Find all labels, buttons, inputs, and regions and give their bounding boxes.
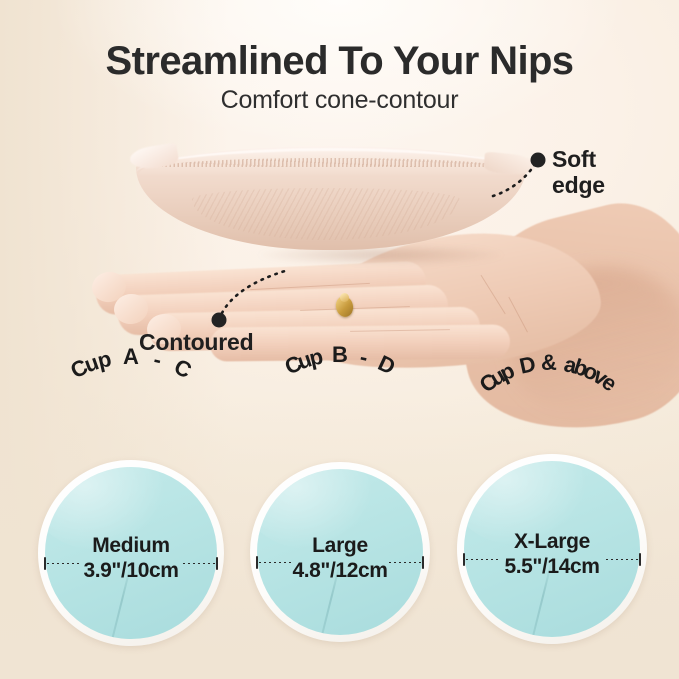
size-text-large: Large 4.8"/12cm [250,534,430,584]
callout-soft-edge: Soft edge [552,147,605,199]
size-dimension: 4.8"/12cm [250,559,430,584]
page-title: Streamlined To Your Nips [0,40,679,82]
ring-gem [340,293,349,302]
size-dimension: 5.5"/14cm [457,555,647,580]
size-disc-xlarge: X-Large 5.5"/14cm [457,454,647,644]
callout-soft-edge-line2: edge [552,173,605,199]
size-disc-medium: Medium 3.9"/10cm [38,460,224,646]
size-text-medium: Medium 3.9"/10cm [38,534,224,584]
infographic-root: Streamlined To Your Nips Comfort cone-co… [0,0,679,679]
nursing-pad [136,140,526,256]
size-chart: Cup A - C Medium 3.9"/10cm [0,424,679,674]
size-disc-large: Large 4.8"/12cm [250,462,430,642]
callout-soft-edge-line1: Soft [552,147,605,173]
size-option-large[interactable]: Cup B - D Large 4.8"/12cm [240,432,440,642]
page-subtitle: Comfort cone-contour [0,86,679,115]
size-text-xlarge: X-Large 5.5"/14cm [457,530,647,580]
size-name: Medium [38,534,224,557]
size-option-xlarge[interactable]: Cup D & above X-Large 5.5"/14cm [449,434,649,644]
size-name: X-Large [457,530,647,553]
pad-mesh-texture [192,188,460,240]
size-dimension: 3.9"/10cm [38,559,224,584]
size-name: Large [250,534,430,557]
callout-contoured: Contoured [139,330,253,356]
size-option-medium[interactable]: Cup A - C Medium 3.9"/10cm [31,436,231,646]
